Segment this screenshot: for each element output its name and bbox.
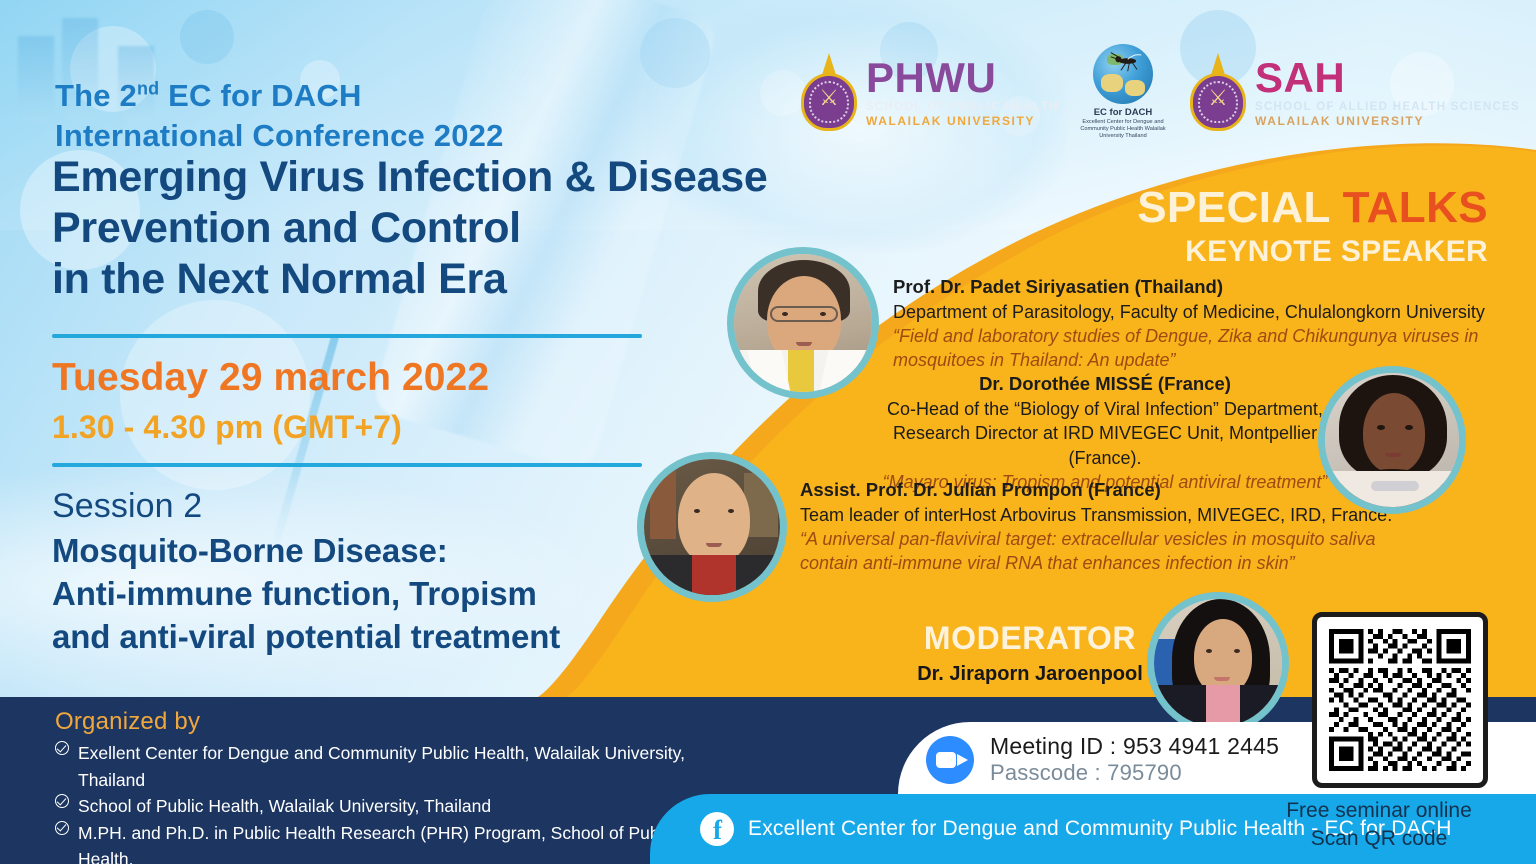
event-date: Tuesday 29 march 2022 [52, 356, 489, 400]
special-word: SPECIAL [1137, 183, 1330, 232]
sah-sub2: WALAILAK UNIVERSITY [1255, 115, 1520, 127]
ec-sublabel: Excellent Center for Dengue and Communit… [1075, 119, 1171, 140]
speaker-2-avatar [1318, 366, 1466, 514]
divider-top [52, 334, 642, 338]
speaker-topic: “Field and laboratory studies of Dengue,… [893, 324, 1493, 372]
session-number: Session 2 [52, 487, 202, 526]
ec-for-dach-logo: EC for DACH Excellent Center for Dengue … [1075, 44, 1171, 140]
conference-poster: The 2nd EC for DACH International Confer… [0, 0, 1536, 864]
sah-logo: ⚔ SAH SCHOOL OF ALLIED HEALTH SCIENCES W… [1187, 53, 1520, 131]
phwu-acronym: PHWU [866, 57, 1059, 99]
keynote-speaker-label: KEYNOTE SPEAKER [1137, 237, 1488, 268]
organizers-list: Exellent Center for Dengue and Community… [55, 740, 735, 864]
free-seminar-line-1: Free seminar online [1264, 797, 1494, 825]
speaker-2: Dr. Dorothée MISSÉ (France) Co-Head of t… [880, 372, 1330, 494]
free-seminar-line-2: Scan QR code [1264, 825, 1494, 853]
speaker-name: Prof. Dr. Padet Siriyasatien (Thailand) [893, 275, 1493, 300]
facebook-icon[interactable]: f [700, 812, 734, 846]
speaker-1-avatar [727, 247, 879, 399]
free-seminar-note: Free seminar online Scan QR code [1264, 797, 1494, 852]
university-seal-icon: ⚔ [1187, 53, 1249, 131]
kicker-line-2: International Conference 2022 [55, 118, 504, 153]
speaker-topic: “A universal pan-flaviviral target: extr… [800, 527, 1420, 575]
speaker-3-avatar [637, 452, 787, 602]
list-item: M.PH. and Ph.D. in Public Health Researc… [55, 820, 735, 864]
phwu-logo: ⚔ PHWU SCHOOL OF PUBLIC HEALTH WALAILAK … [798, 53, 1059, 131]
mosquito-icon [1109, 50, 1143, 72]
session-title: Mosquito-Borne Disease: Anti-immune func… [52, 530, 560, 659]
speaker-affiliation: Department of Parasitology, Faculty of M… [893, 300, 1493, 324]
speaker-1: Prof. Dr. Padet Siriyasatien (Thailand) … [893, 275, 1493, 372]
special-talks-header: SPECIAL TALKS KEYNOTE SPEAKER [1137, 186, 1488, 267]
event-time: 1.30 - 4.30 pm (GMT+7) [52, 409, 402, 446]
list-item: School of Public Health, Walailak Univer… [55, 793, 735, 820]
organized-by-heading: Organized by [55, 708, 200, 736]
moderator-label: MODERATOR [905, 620, 1155, 657]
zoom-camera-icon [926, 736, 974, 784]
sah-acronym: SAH [1255, 57, 1520, 99]
speaker-name: Dr. Dorothée MISSÉ (France) [880, 372, 1330, 397]
kicker-line-1: The 2nd EC for DACH [55, 78, 362, 113]
phwu-sub2: WALAILAK UNIVERSITY [866, 115, 1059, 127]
sah-sub1: SCHOOL OF ALLIED HEALTH SCIENCES [1255, 102, 1520, 114]
divider-bottom [52, 463, 642, 467]
talks-word: TALKS [1343, 183, 1488, 232]
meeting-id: Meeting ID : 953 4941 2445 [990, 733, 1279, 760]
check-icon [55, 794, 69, 808]
partner-logos: ⚔ PHWU SCHOOL OF PUBLIC HEALTH WALAILAK … [798, 44, 1520, 140]
moderator-block: MODERATOR Dr. Jiraporn Jaroenpool [905, 620, 1155, 686]
phwu-sub1: SCHOOL OF PUBLIC HEALTH [866, 102, 1059, 114]
conference-kicker: The 2nd EC for DACH International Confer… [55, 76, 504, 155]
ec-label: EC for DACH [1075, 107, 1171, 118]
speaker-affiliation: Co-Head of the “Biology of Viral Infecti… [880, 397, 1330, 470]
qr-code-image [1329, 629, 1471, 771]
university-seal-icon: ⚔ [798, 53, 860, 131]
moderator-name: Dr. Jiraporn Jaroenpool [905, 663, 1155, 686]
globe-mosquito-icon [1093, 44, 1153, 104]
meeting-passcode: Passcode : 795790 [990, 760, 1279, 786]
list-item: Exellent Center for Dengue and Community… [55, 740, 735, 793]
moderator-avatar [1147, 592, 1289, 734]
page-title: Emerging Virus Infection & Disease Preve… [52, 152, 767, 305]
qr-code[interactable] [1312, 612, 1488, 788]
check-icon [55, 821, 69, 835]
check-icon [55, 741, 69, 755]
